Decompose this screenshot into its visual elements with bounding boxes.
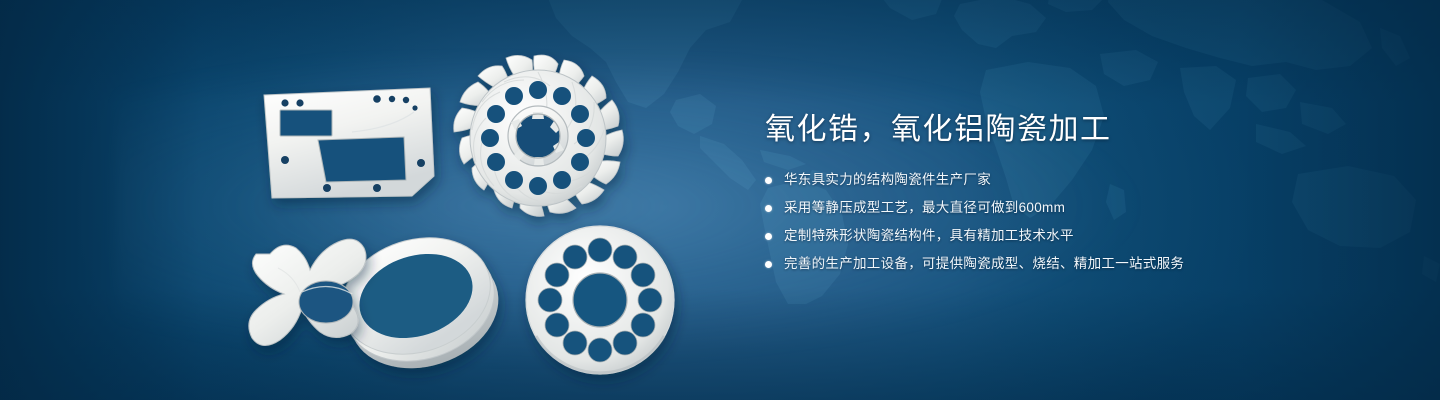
ceramic-impeller-part: [454, 55, 624, 216]
hero-banner: 氧化锆，氧化铝陶瓷加工 华东具实力的结构陶瓷件生产厂家 采用等静压成型工艺，最大…: [0, 0, 1440, 400]
feature-list: 华东具实力的结构陶瓷件生产厂家 采用等静压成型工艺，最大直径可做到600mm 定…: [765, 170, 1385, 274]
product-photo-group: [0, 0, 720, 400]
feature-text: 华东具实力的结构陶瓷件生产厂家: [784, 170, 991, 190]
list-item: 定制特殊形状陶瓷结构件，具有精加工技术水平: [765, 226, 1385, 246]
feature-text: 完善的生产加工设备，可提供陶瓷成型、烧结、精加工一站式服务: [784, 254, 1184, 274]
ceramic-plate-part: [264, 88, 434, 198]
banner-copy: 氧化锆，氧化铝陶瓷加工 华东具实力的结构陶瓷件生产厂家 采用等静压成型工艺，最大…: [765, 112, 1385, 282]
feature-text: 采用等静压成型工艺，最大直径可做到600mm: [784, 198, 1065, 218]
bullet-dot-icon: [765, 177, 772, 184]
feature-text: 定制特殊形状陶瓷结构件，具有精加工技术水平: [784, 226, 1074, 246]
ceramic-cam-plate-part: [249, 239, 366, 345]
bullet-dot-icon: [765, 233, 772, 240]
list-item: 完善的生产加工设备，可提供陶瓷成型、烧结、精加工一站式服务: [765, 254, 1385, 274]
bullet-dot-icon: [765, 261, 772, 268]
bullet-dot-icon: [765, 205, 772, 212]
ceramic-retainer-disc-part: [526, 226, 674, 374]
page-title: 氧化锆，氧化铝陶瓷加工: [765, 112, 1385, 148]
list-item: 华东具实力的结构陶瓷件生产厂家: [765, 170, 1385, 190]
list-item: 采用等静压成型工艺，最大直径可做到600mm: [765, 198, 1385, 218]
